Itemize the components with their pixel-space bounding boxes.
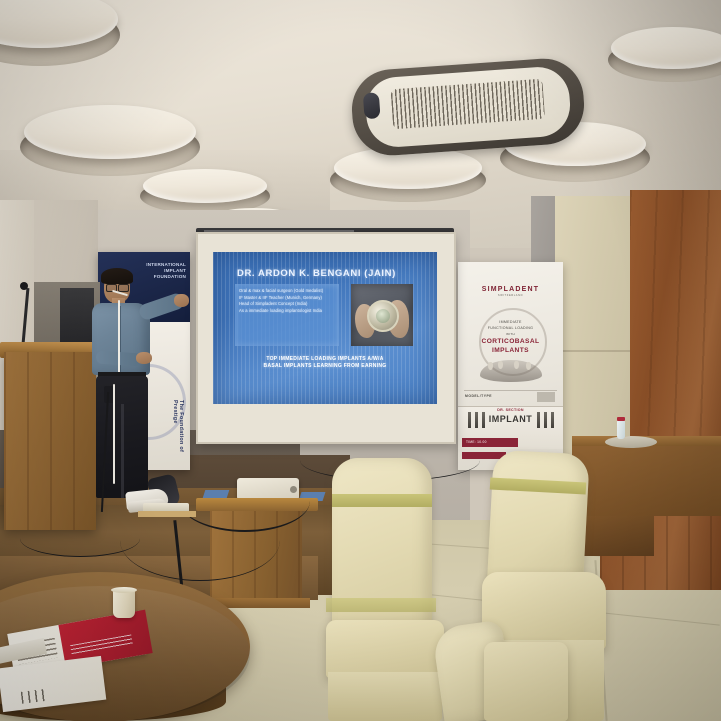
cable-4 <box>20 520 140 557</box>
power-strip-board <box>138 511 196 517</box>
chair-front-left <box>326 458 446 721</box>
speaker-right-hand <box>174 294 189 307</box>
chair-seat <box>326 620 444 678</box>
chair-sash-lower <box>326 598 436 612</box>
chair-seat <box>484 642 568 721</box>
speaker-hair <box>101 268 133 284</box>
chair-skirt <box>328 672 442 721</box>
brochure-red-text-lines <box>70 634 133 655</box>
chair-sash <box>332 494 432 507</box>
paper-cup-rim <box>111 587 137 593</box>
glasses-right-lens-icon <box>118 284 129 292</box>
conference-room-photo: INTERNATIONAL IMPLANT FOUNDATION The Fou… <box>0 0 721 721</box>
chair-foreground <box>438 624 568 721</box>
microphone-wire-lower <box>113 384 115 484</box>
trouser-leg-seam <box>121 404 124 498</box>
paper-cup <box>113 589 135 618</box>
chair-back <box>332 458 432 640</box>
leaflet-text-lines <box>21 689 48 704</box>
speaker-left-hand <box>136 352 152 364</box>
